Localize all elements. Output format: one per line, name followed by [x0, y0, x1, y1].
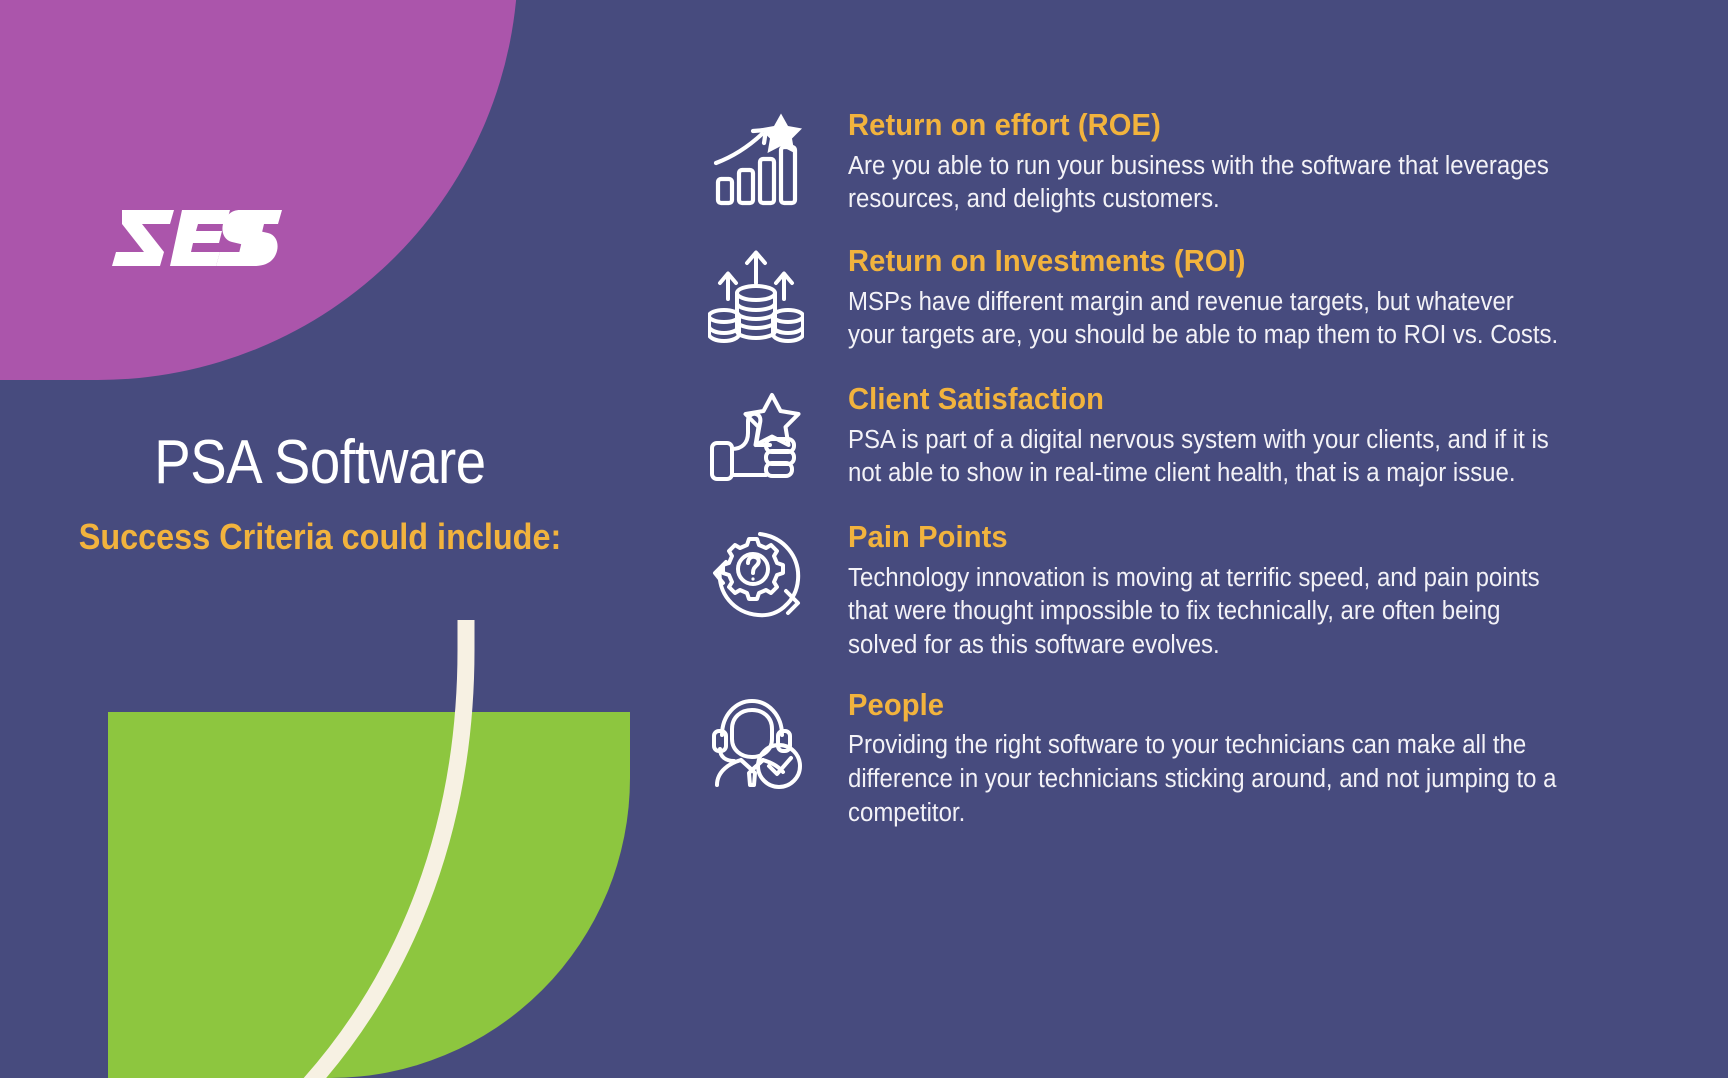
list-item-text: Return on effort (ROE) Are you able to r… [812, 105, 1700, 217]
bar-chart-growth-star-icon [700, 105, 812, 217]
list-item-body: Providing the right software to your tec… [848, 729, 1562, 830]
gear-question-mark-icon [700, 517, 812, 629]
list-item-text: Pain Points Technology innovation is mov… [812, 517, 1700, 663]
thumbs-up-star-icon [700, 379, 812, 491]
purple-quarter-circle [0, 0, 518, 380]
criteria-list: Return on effort (ROE) Are you able to r… [700, 105, 1700, 830]
list-item: Return on Investments (ROI) MSPs have di… [700, 241, 1700, 353]
zest-logo [112, 206, 282, 270]
list-item-body: PSA is part of a digital nervous system … [848, 424, 1562, 491]
infographic-canvas: PSA Software Success Criteria could incl… [0, 0, 1728, 1078]
list-item-body: MSPs have different margin and revenue t… [848, 286, 1562, 353]
list-item-text: Client Satisfaction PSA is part of a dig… [812, 379, 1700, 491]
list-item-title: Pain Points [848, 519, 1649, 555]
support-agent-check-icon [700, 685, 812, 797]
list-item: Return on effort (ROE) Are you able to r… [700, 105, 1700, 217]
coin-stacks-arrows-up-icon [700, 241, 812, 353]
list-item-title: Return on Investments (ROI) [848, 243, 1649, 279]
cream-arc-outline [0, 620, 522, 1078]
list-item-title: Client Satisfaction [848, 381, 1649, 417]
list-item: Client Satisfaction PSA is part of a dig… [700, 379, 1700, 491]
list-item: People Providing the right software to y… [700, 685, 1700, 831]
list-item-title: Return on effort (ROE) [848, 107, 1649, 143]
list-item: Pain Points Technology innovation is mov… [700, 517, 1700, 663]
page-title: PSA Software [38, 430, 601, 495]
page-subtitle: Success Criteria could include: [32, 517, 608, 557]
list-item-body: Are you able to run your business with t… [848, 150, 1562, 217]
list-item-text: People Providing the right software to y… [812, 685, 1700, 831]
list-item-title: People [848, 687, 1649, 723]
list-item-text: Return on Investments (ROI) MSPs have di… [812, 241, 1700, 353]
list-item-body: Technology innovation is moving at terri… [848, 562, 1562, 663]
